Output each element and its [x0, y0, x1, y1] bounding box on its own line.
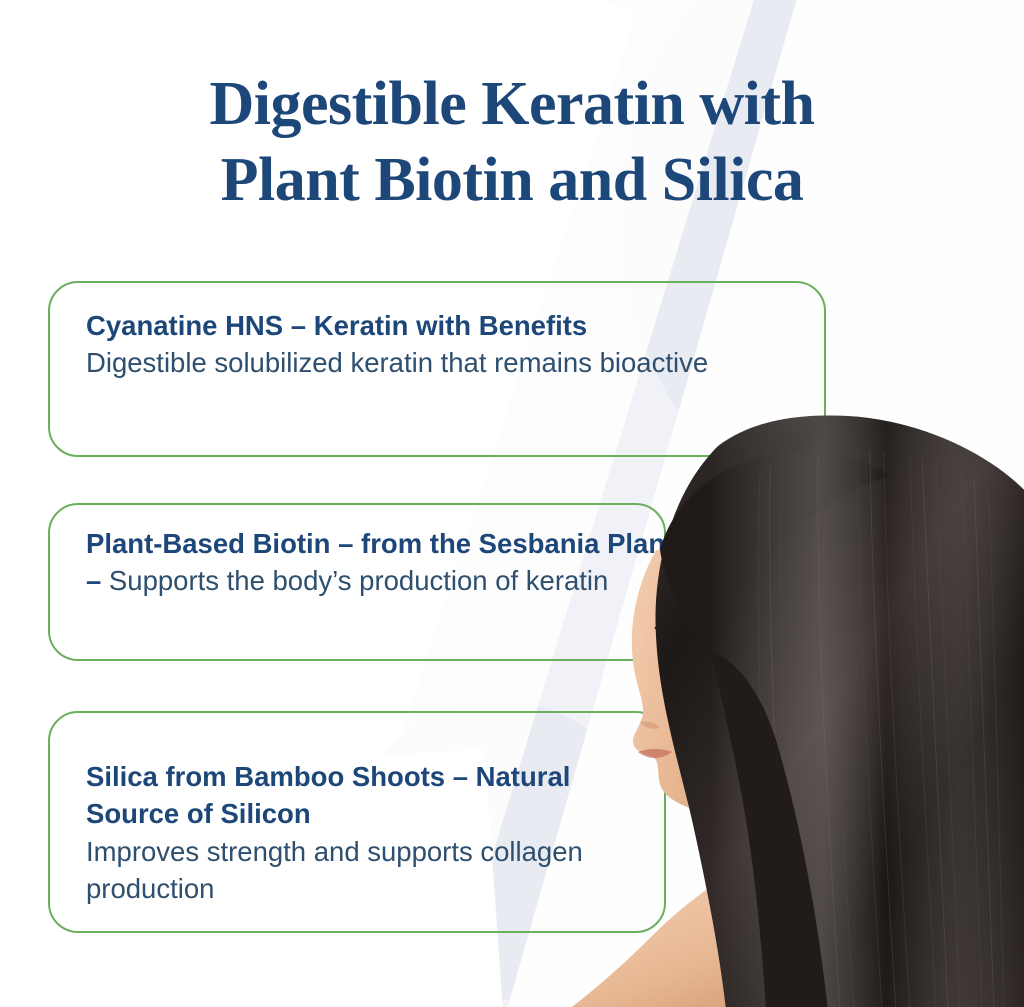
benefit-card-3-body: Improves strength and supports collagen …: [86, 836, 583, 904]
benefit-card-1-body: Digestible solubilized keratin that rema…: [86, 347, 708, 378]
benefit-card-1-text: Cyanatine HNS – Keratin with BenefitsDig…: [86, 307, 806, 382]
benefit-card-2-text: Plant-Based Biotin – from the Sesbania P…: [86, 525, 686, 600]
page-title-line-1: Digestible Keratin with: [0, 66, 1024, 142]
benefit-card-1-heading: Cyanatine HNS – Keratin with Benefits: [86, 310, 587, 341]
page-title-line-2: Plant Biotin and Silica: [0, 142, 1024, 218]
benefit-card-3-heading: Silica from Bamboo Shoots – Natural Sour…: [86, 761, 570, 829]
page-title: Digestible Keratin with Plant Biotin and…: [0, 66, 1024, 219]
benefit-card-2-body: Supports the body’s production of kerati…: [101, 565, 608, 596]
benefit-card-3-text: Silica from Bamboo Shoots – Natural Sour…: [86, 758, 666, 908]
hair-shape: [656, 400, 1024, 1007]
infographic-canvas: Digestible Keratin with Plant Biotin and…: [0, 0, 1024, 1007]
